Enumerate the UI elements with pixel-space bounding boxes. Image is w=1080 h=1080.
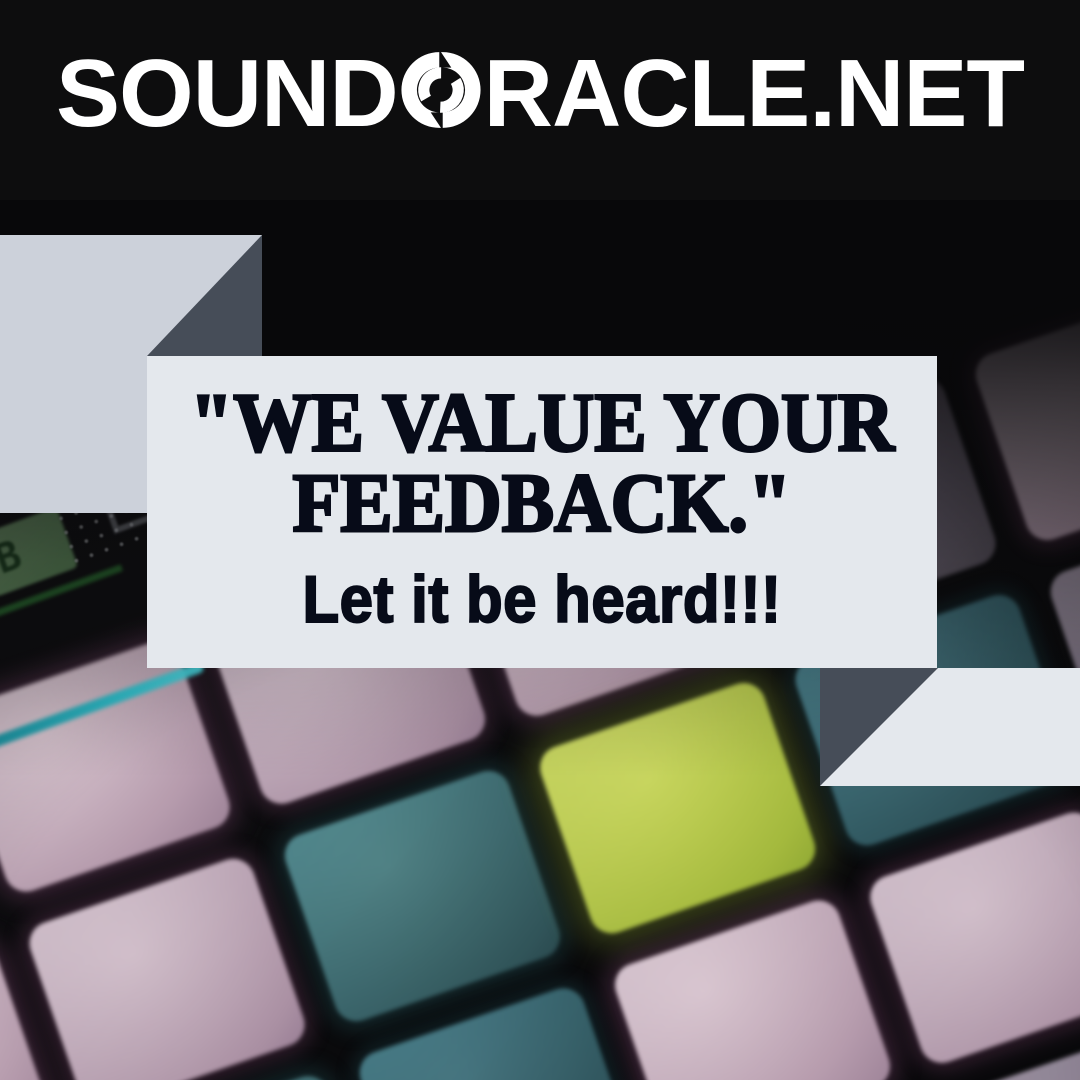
circular-refresh-arrows-icon xyxy=(398,47,484,133)
callout-headline-line2: FEEDBACK." xyxy=(123,464,960,544)
promo-graphic-canvas: B SOUND RACLE.NET "WE VALUE YOUR xyxy=(0,0,1080,1080)
logo-text-after: RACLE.NET xyxy=(484,46,1024,142)
logo-text-before: SOUND xyxy=(56,46,398,142)
callout-headline-line1: "WE VALUE YOUR xyxy=(190,377,895,470)
brand-logo[interactable]: SOUND RACLE.NET xyxy=(0,40,1080,148)
header-band: SOUND RACLE.NET xyxy=(0,0,1080,200)
callout-subline: Let it be heard!!! xyxy=(302,567,781,633)
callout-panel: "WE VALUE YOUR FEEDBACK." Let it be hear… xyxy=(147,356,937,668)
callout-headline: "WE VALUE YOUR FEEDBACK." xyxy=(123,384,960,545)
